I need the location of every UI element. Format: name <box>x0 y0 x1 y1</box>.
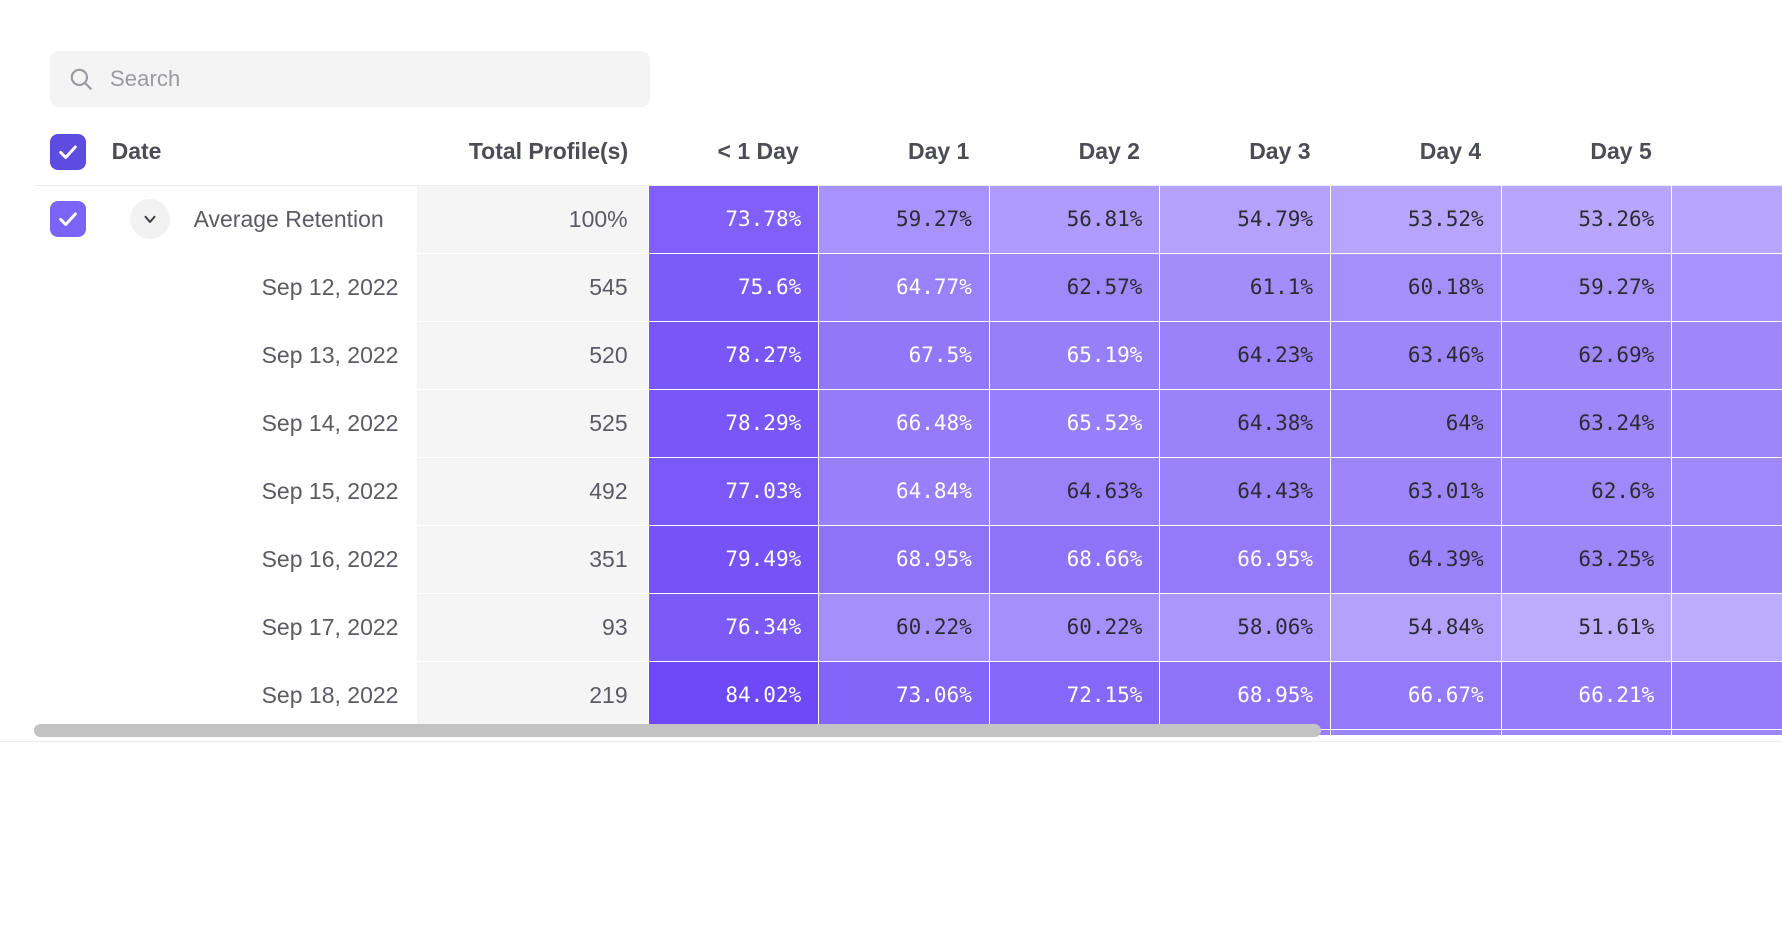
footer-bar: Find Interesting Segments Receive an ema… <box>0 741 1782 930</box>
retention-cell[interactable]: 64.77% <box>819 253 990 321</box>
select-all-checkbox[interactable] <box>50 134 86 170</box>
row-total-profiles: 219 <box>417 661 648 729</box>
search-icon <box>68 66 94 92</box>
table-row[interactable]: Sep 18, 202221984.02%73.06%72.15%68.95%6… <box>0 661 1782 729</box>
retention-cell[interactable]: 64.38% <box>1160 389 1331 457</box>
table-row[interactable]: Sep 13, 202252078.27%67.5%65.19%64.23%63… <box>0 321 1782 389</box>
horizontal-scrollbar-thumb[interactable] <box>34 724 1321 737</box>
search-field-wrapper: Search <box>50 51 650 107</box>
table-row[interactable]: Average Retention100%73.78%59.27%56.81%5… <box>0 185 1782 253</box>
retention-cell[interactable]: 58.06% <box>1160 593 1331 661</box>
row-total-profiles: 100% <box>417 185 648 253</box>
retention-cell[interactable]: 84.02% <box>648 661 819 729</box>
retention-cell[interactable]: 60.22% <box>819 593 990 661</box>
row-total-profiles: 545 <box>417 253 648 321</box>
table-row[interactable]: Sep 17, 20229376.34%60.22%60.22%58.06%54… <box>0 593 1782 661</box>
column-header-date[interactable]: Date <box>112 118 418 185</box>
table-header: Date Total Profile(s) < 1 Day Day 1 Day … <box>0 118 1782 185</box>
table-row[interactable]: Sep 14, 202252578.29%66.48%65.52%64.38%6… <box>0 389 1782 457</box>
retention-cell[interactable]: 51.61% <box>1501 593 1672 661</box>
retention-cell[interactable]: 77.03% <box>648 457 819 525</box>
column-header-lt-1-day[interactable]: < 1 Day <box>648 118 819 185</box>
column-header-day-6-partial[interactable] <box>1672 118 1782 185</box>
retention-cell[interactable]: 63.01% <box>1331 457 1502 525</box>
row-checkbox[interactable] <box>50 201 86 237</box>
retention-cell[interactable]: 66.67% <box>1331 661 1502 729</box>
retention-cell-partial[interactable] <box>1672 661 1782 729</box>
table-row[interactable]: Sep 16, 202235179.49%68.95%68.66%66.95%6… <box>0 525 1782 593</box>
row-label-date: Sep 12, 2022 <box>112 253 418 321</box>
row-total-profiles: 351 <box>417 525 648 593</box>
retention-cell[interactable]: 60.22% <box>989 593 1160 661</box>
retention-cell[interactable]: 64.43% <box>1160 457 1331 525</box>
table-body: Average Retention100%73.78%59.27%56.81%5… <box>0 185 1782 735</box>
retention-cell[interactable]: 68.95% <box>1160 661 1331 729</box>
retention-cell-partial[interactable] <box>1672 321 1782 389</box>
retention-cell[interactable]: 65.52% <box>989 389 1160 457</box>
retention-cell[interactable]: 62.69% <box>1501 321 1672 389</box>
retention-cell[interactable]: 54.79% <box>1160 185 1331 253</box>
retention-cell[interactable]: 63.46% <box>1331 321 1502 389</box>
column-header-day-4[interactable]: Day 4 <box>1331 118 1502 185</box>
retention-cell[interactable]: 56.81% <box>989 185 1160 253</box>
retention-cell[interactable]: 54.84% <box>1331 593 1502 661</box>
retention-cell-partial[interactable] <box>1672 253 1782 321</box>
retention-cell[interactable]: 64% <box>1331 389 1502 457</box>
row-select-cell <box>0 389 112 457</box>
retention-cell[interactable]: 67.5% <box>819 321 990 389</box>
chevron-down-icon[interactable] <box>130 199 170 239</box>
header-divider <box>35 185 1782 186</box>
column-header-day-3[interactable]: Day 3 <box>1160 118 1331 185</box>
retention-cell[interactable]: 79.49% <box>648 525 819 593</box>
retention-cell[interactable]: 76.34% <box>648 593 819 661</box>
retention-cell[interactable]: 73.06% <box>819 661 990 729</box>
row-select-cell <box>0 593 112 661</box>
retention-cell[interactable]: 62.57% <box>989 253 1160 321</box>
row-label-date: Sep 14, 2022 <box>112 389 418 457</box>
retention-cell[interactable]: 59.27% <box>1501 253 1672 321</box>
row-select-cell <box>0 525 112 593</box>
row-label-date: Sep 17, 2022 <box>112 593 418 661</box>
retention-cell[interactable]: 72.15% <box>989 661 1160 729</box>
retention-cell[interactable]: 59.27% <box>819 185 990 253</box>
search-placeholder: Search <box>110 66 180 92</box>
row-total-profiles: 492 <box>417 457 648 525</box>
row-select-cell <box>0 661 112 729</box>
row-select-cell <box>0 253 112 321</box>
retention-cell[interactable]: 60.18% <box>1331 253 1502 321</box>
table-row[interactable]: Sep 12, 202254575.6%64.77%62.57%61.1%60.… <box>0 253 1782 321</box>
retention-table-scroll-region[interactable]: Date Total Profile(s) < 1 Day Day 1 Day … <box>0 118 1782 735</box>
retention-cell[interactable]: 78.29% <box>648 389 819 457</box>
retention-cell[interactable]: 66.48% <box>819 389 990 457</box>
retention-cell[interactable]: 63.25% <box>1501 525 1672 593</box>
table-row[interactable]: Sep 15, 202249277.03%64.84%64.63%64.43%6… <box>0 457 1782 525</box>
row-label-text: Average Retention <box>194 206 384 233</box>
search-input[interactable]: Search <box>50 51 650 107</box>
retention-cell[interactable]: 64.23% <box>1160 321 1331 389</box>
retention-cell[interactable]: 78.27% <box>648 321 819 389</box>
column-header-day-5[interactable]: Day 5 <box>1501 118 1672 185</box>
retention-table-screen: Search Date Total Profile(s) < 1 Day <box>0 0 1782 930</box>
retention-table: Date Total Profile(s) < 1 Day Day 1 Day … <box>0 118 1782 735</box>
retention-cell[interactable]: 61.1% <box>1160 253 1331 321</box>
column-header-day-2[interactable]: Day 2 <box>989 118 1160 185</box>
retention-cell[interactable]: 64.63% <box>989 457 1160 525</box>
retention-cell[interactable]: 66.21% <box>1501 661 1672 729</box>
row-total-profiles: 93 <box>417 593 648 661</box>
row-select-cell <box>0 321 112 389</box>
retention-cell-partial[interactable] <box>1672 593 1782 661</box>
row-label-date: Sep 15, 2022 <box>112 457 418 525</box>
retention-cell[interactable]: 53.26% <box>1501 185 1672 253</box>
retention-cell-partial[interactable] <box>1672 185 1782 253</box>
row-select-cell <box>0 457 112 525</box>
retention-cell-partial[interactable] <box>1672 457 1782 525</box>
retention-cell-partial[interactable] <box>1672 525 1782 593</box>
row-total-profiles: 520 <box>417 321 648 389</box>
column-header-total-profiles[interactable]: Total Profile(s) <box>417 118 648 185</box>
column-header-day-1[interactable]: Day 1 <box>819 118 990 185</box>
retention-cell[interactable]: 68.95% <box>819 525 990 593</box>
retention-cell[interactable]: 53.52% <box>1331 185 1502 253</box>
row-label-date: Sep 18, 2022 <box>112 661 418 729</box>
retention-cell[interactable]: 66.95% <box>1160 525 1331 593</box>
row-label-date: Sep 13, 2022 <box>112 321 418 389</box>
retention-cell[interactable]: 75.6% <box>648 253 819 321</box>
retention-cell[interactable]: 64.84% <box>819 457 990 525</box>
retention-cell[interactable]: 62.6% <box>1501 457 1672 525</box>
retention-cell-partial[interactable] <box>1672 389 1782 457</box>
row-label-date: Sep 16, 2022 <box>112 525 418 593</box>
row-select-cell <box>0 185 112 253</box>
retention-cell[interactable]: 73.78% <box>648 185 819 253</box>
row-total-profiles: 525 <box>417 389 648 457</box>
retention-cell[interactable]: 64.39% <box>1331 525 1502 593</box>
retention-cell[interactable]: 65.19% <box>989 321 1160 389</box>
retention-cell[interactable]: 63.24% <box>1501 389 1672 457</box>
retention-cell[interactable]: 68.66% <box>989 525 1160 593</box>
row-label-average-retention: Average Retention <box>112 185 418 253</box>
select-all-cell <box>0 118 112 185</box>
